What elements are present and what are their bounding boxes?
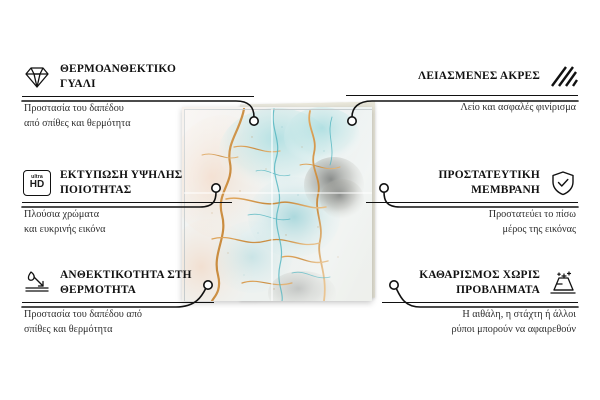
infographic-canvas: ΘΕΡΜΟΑΝΘΕΚΤΙΚΟ ΓΥΑΛΙ Προστασία του δαπέδ… — [0, 0, 600, 400]
feature-thermal-resistant-glass: ΘΕΡΜΟΑΝΘΕΚΤΙΚΟ ΓΥΑΛΙ Προστασία του δαπέδ… — [22, 62, 202, 131]
feature-title: ΠΡΟΣΤΑΤΕΥΤΙΚΗ ΜΕΜΒΡΑΝΗ — [398, 168, 540, 197]
feature-easy-cleaning: ΚΑΘΑΡΙΣΜΟΣ ΧΩΡΙΣ ΠΡΟΒΛΗΜΑΤΑ Η αιθάλη, η … — [398, 268, 578, 337]
feature-high-quality-print: ultra HD ΕΚΤΥΠΩΣΗ ΥΨΗΛΗΣ ΠΟΙΟΤΗΤΑΣ Πλούσ… — [22, 168, 202, 237]
ultra-hd-icon: ultra HD — [22, 169, 52, 197]
feature-title: ΕΚΤΥΠΩΣΗ ΥΨΗΛΗΣ ΠΟΙΟΤΗΤΑΣ — [60, 168, 202, 197]
feature-rule — [22, 202, 232, 203]
diagonal-stripes-icon — [548, 62, 578, 90]
hd-badge-large: HD — [30, 180, 44, 190]
feature-header: ΠΡΟΣΤΑΤΕΥΤΙΚΗ ΜΕΜΒΡΑΝΗ — [398, 168, 578, 197]
feature-title: ΑΝΘΕΚΤΙΚΟΤΗΤΑ ΣΤΗ ΘΕΡΜΟΤΗΤΑ — [60, 268, 202, 297]
product-image — [180, 105, 420, 305]
feature-rule — [382, 302, 578, 303]
feature-polished-edges: ΛΕΙΑΣΜΕΝΕΣ ΑΚΡΕΣ Λείο και ασφαλές φινίρι… — [398, 62, 578, 115]
feature-title: ΛΕΙΑΣΜΕΝΕΣ ΑΚΡΕΣ — [418, 69, 540, 84]
feature-header: ΑΝΘΕΚΤΙΚΟΤΗΤΑ ΣΤΗ ΘΕΡΜΟΤΗΤΑ — [22, 268, 202, 297]
feature-rule — [346, 95, 578, 96]
feature-protective-membrane: ΠΡΟΣΤΑΤΕΥΤΙΚΗ ΜΕΜΒΡΑΝΗ Προστατεύει το πί… — [398, 168, 578, 237]
glass-panel — [182, 107, 372, 301]
abstract-ink-artwork — [182, 107, 372, 301]
feature-body: Προστασία του δαπέδου από σπίθες και θερ… — [22, 308, 202, 337]
feature-body: Προστασία του δαπέδου από σπίθες και θερ… — [22, 102, 202, 131]
feature-body: Πλούσια χρώματα και ευκρινής εικόνα — [22, 208, 202, 237]
shield-check-icon — [548, 169, 578, 197]
feature-title: ΚΑΘΑΡΙΣΜΟΣ ΧΩΡΙΣ ΠΡΟΒΛΗΜΑΤΑ — [398, 268, 540, 297]
feature-body: Η αιθάλη, η στάχτη ή άλλοι ρύποι μπορούν… — [398, 308, 578, 337]
sparkle-wipe-icon — [548, 269, 578, 297]
feature-header: ΘΕΡΜΟΑΝΘΕΚΤΙΚΟ ΓΥΑΛΙ — [22, 62, 202, 91]
feature-body: Λείο και ασφαλές φινίρισμα — [398, 101, 578, 115]
feature-rule — [22, 96, 254, 97]
feature-title: ΘΕΡΜΟΑΝΘΕΚΤΙΚΟ ΓΥΑΛΙ — [60, 62, 202, 91]
feature-header: ΛΕΙΑΣΜΕΝΕΣ ΑΚΡΕΣ — [398, 62, 578, 90]
feature-header: ultra HD ΕΚΤΥΠΩΣΗ ΥΨΗΛΗΣ ΠΟΙΟΤΗΤΑΣ — [22, 168, 202, 197]
flame-deflect-icon — [22, 269, 52, 297]
diamond-icon — [22, 63, 52, 91]
feature-rule — [366, 202, 578, 203]
feature-header: ΚΑΘΑΡΙΣΜΟΣ ΧΩΡΙΣ ΠΡΟΒΛΗΜΑΤΑ — [398, 268, 578, 297]
feature-heat-resistance: ΑΝΘΕΚΤΙΚΟΤΗΤΑ ΣΤΗ ΘΕΡΜΟΤΗΤΑ Προστασία το… — [22, 268, 202, 337]
feature-body: Προστατεύει το πίσω μέρος της εικόνας — [398, 208, 578, 237]
feature-rule — [22, 302, 214, 303]
